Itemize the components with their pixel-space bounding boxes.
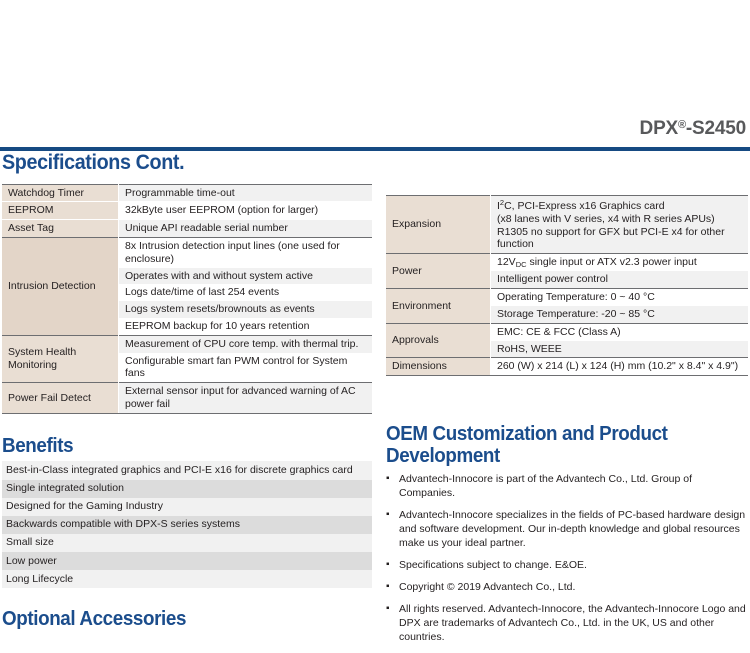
spec-label: System Health Monitoring [2,335,119,382]
spec-value: Logs system resets/brownouts as events [119,301,373,318]
spec-value: EEPROM backup for 10 years retention [119,318,373,335]
optional-accessories-heading: Optional Accessories [2,609,350,631]
table-row: Approvals EMC: CE & FCC (Class A) [386,323,748,340]
list-item: Advantech-Innocore is part of the Advant… [386,473,748,501]
product-name: DPX [640,118,678,139]
spec-value: Configurable smart fan PWM control for S… [119,353,373,383]
spec-value: Logs date/time of last 254 events [119,284,373,301]
spec-value: 260 (W) x 214 (L) x 124 (H) mm (10.2" x … [491,358,749,376]
table-row: Environment Operating Temperature: 0 ~ 4… [386,289,748,306]
spec-value: Storage Temperature: -20 ~ 85 °C [491,306,749,323]
table-row: Power Fail Detect External sensor input … [2,383,372,414]
right-column: Expansion I2C, PCI-Express x16 Graphics … [386,152,748,653]
specifications-table: Watchdog Timer Programmable time-out EEP… [2,184,372,414]
list-item: Advantech-Innocore specializes in the fi… [386,509,748,551]
table-row: Asset Tag Unique API readable serial num… [2,220,372,238]
spec-value: I2C, PCI-Express x16 Graphics card(x8 la… [491,196,749,254]
left-column: Specifications Cont. Watchdog Timer Prog… [2,152,372,631]
spec-value: RoHS, WEEE [491,341,749,358]
list-item: Copyright © 2019 Advantech Co., Ltd. [386,581,748,595]
spec-value: EMC: CE & FCC (Class A) [491,323,749,340]
spec-label: Approvals [386,323,491,358]
spec-label: Asset Tag [2,220,119,238]
list-item: Small size [2,534,372,552]
spec-value: 32kByte user EEPROM (option for larger) [119,202,373,220]
registered-mark-icon: ® [678,119,686,131]
spec-label: EEPROM [2,202,119,220]
spec-value: Operating Temperature: 0 ~ 40 °C [491,289,749,306]
spec-value: Measurement of CPU core temp. with therm… [119,335,373,352]
table-row: Power 12VDC single input or ATX v2.3 pow… [386,254,748,272]
oem-heading-line-2: Development [386,446,726,468]
spec-label: Power Fail Detect [2,383,119,414]
oem-bullet-list: Advantech-Innocore is part of the Advant… [386,473,748,645]
list-item: All rights reserved. Advantech-Innocore,… [386,603,748,645]
specifications-heading: Specifications Cont. [2,152,350,175]
dc-subscript: DC [516,260,527,269]
oem-heading-line-1: OEM Customization and Product [386,424,726,446]
product-model: -S2450 [686,118,746,139]
list-item: Backwards compatible with DPX-S series s… [2,516,372,534]
list-item: Designed for the Gaming Industry [2,498,372,516]
table-row: EEPROM 32kByte user EEPROM (option for l… [2,202,372,220]
spec-value: Operates with and without system active [119,268,373,285]
list-item: Specifications subject to change. E&OE. [386,559,748,573]
list-item: Low power [2,552,372,570]
spec-value: Unique API readable serial number [119,220,373,238]
table-row: System Health Monitoring Measurement of … [2,335,372,352]
benefits-list: Best-in-Class integrated graphics and PC… [2,461,372,588]
spec-value: Programmable time-out [119,184,373,202]
spec-label: Intrusion Detection [2,238,119,336]
specifications-table-continued: Expansion I2C, PCI-Express x16 Graphics … [386,195,748,376]
spec-value: 8x Intrusion detection input lines (one … [119,238,373,268]
spec-value: 12VDC single input or ATX v2.3 power inp… [491,254,749,272]
benefits-heading: Benefits [2,436,350,458]
table-row: Watchdog Timer Programmable time-out [2,184,372,202]
table-row: Intrusion Detection 8x Intrusion detecti… [2,238,372,268]
spec-value: External sensor input for advanced warni… [119,383,373,414]
page-title: DPX®-S2450 [640,118,746,140]
spec-label: Power [386,254,491,289]
spec-label: Watchdog Timer [2,184,119,202]
table-row: Expansion I2C, PCI-Express x16 Graphics … [386,196,748,254]
list-item: Best-in-Class integrated graphics and PC… [2,461,372,479]
spec-label: Environment [386,289,491,324]
page-header: DPX®-S2450 [0,0,750,150]
list-item: Long Lifecycle [2,570,372,588]
list-item: Single integrated solution [2,480,372,498]
spec-label: Expansion [386,196,491,254]
spec-value: Intelligent power control [491,271,749,288]
spec-label: Dimensions [386,358,491,376]
table-row: Dimensions 260 (W) x 214 (L) x 124 (H) m… [386,358,748,376]
